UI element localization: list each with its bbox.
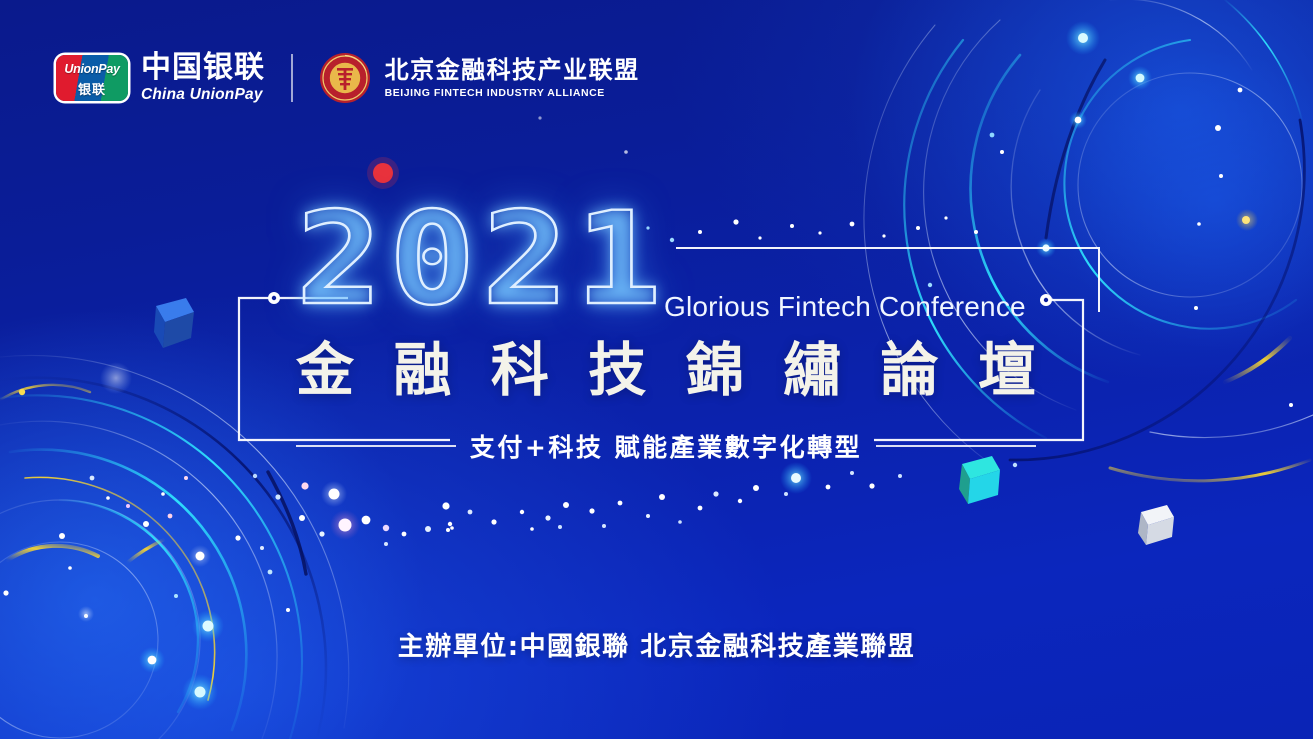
bfia-name-cn: 北京金融科技产业联盟 [385, 58, 640, 82]
particle-trail [253, 462, 902, 546]
organizers: 主辦單位:中國銀聯 北京金融科技產業聯盟 [0, 626, 1313, 663]
title-char: 論 [881, 338, 939, 403]
unionpay-mark-line1: UnionPay [56, 62, 128, 76]
year-2021: 2021 [296, 196, 668, 324]
title-char: 錦 [686, 338, 744, 403]
tagline-rule-left [296, 445, 456, 447]
logo-divider [291, 54, 293, 102]
bfia-logo: 北京金融科技产业联盟 BEIJING FINTECH INDUSTRY ALLI… [319, 52, 640, 104]
logo-header: UnionPay 银联 中国银联 China UnionPay [56, 50, 640, 106]
particle-trail-upper [90, 476, 264, 567]
unionpay-mark-icon: UnionPay 银联 [56, 55, 128, 101]
tagline-row: 支付+科技 賦能產業數字化轉型 [296, 428, 1036, 464]
title-char: 金 [296, 338, 354, 403]
title-char: 科 [491, 338, 549, 403]
title-char: 壇 [978, 338, 1036, 403]
tagline-rule-right [876, 445, 1036, 447]
title-char: 技 [588, 338, 646, 403]
english-title: Glorious Fintech Conference [664, 291, 1026, 323]
rings-top-right [864, 0, 1313, 481]
unionpay-logo: UnionPay 银联 中国银联 China UnionPay [56, 53, 265, 103]
title-char: 繡 [783, 338, 841, 403]
unionpay-mark-line2: 银联 [56, 79, 128, 98]
rings-bottom-left [0, 356, 349, 739]
cube-white [1138, 505, 1174, 545]
tagline: 支付+科技 賦能產業數字化轉型 [470, 428, 862, 464]
bfia-name-en: BEIJING FINTECH INDUSTRY ALLIANCE [385, 88, 640, 99]
title-char: 融 [393, 338, 451, 403]
unionpay-name-cn: 中国银联 [141, 53, 265, 83]
bfia-seal-icon [319, 52, 371, 104]
conference-poster: UnionPay 银联 中国银联 China UnionPay [0, 0, 1313, 739]
main-title: 金 融 科 技 錦 繡 論 壇 [296, 338, 1036, 403]
cube-blue [154, 298, 194, 348]
unionpay-name-en: China UnionPay [141, 87, 265, 103]
